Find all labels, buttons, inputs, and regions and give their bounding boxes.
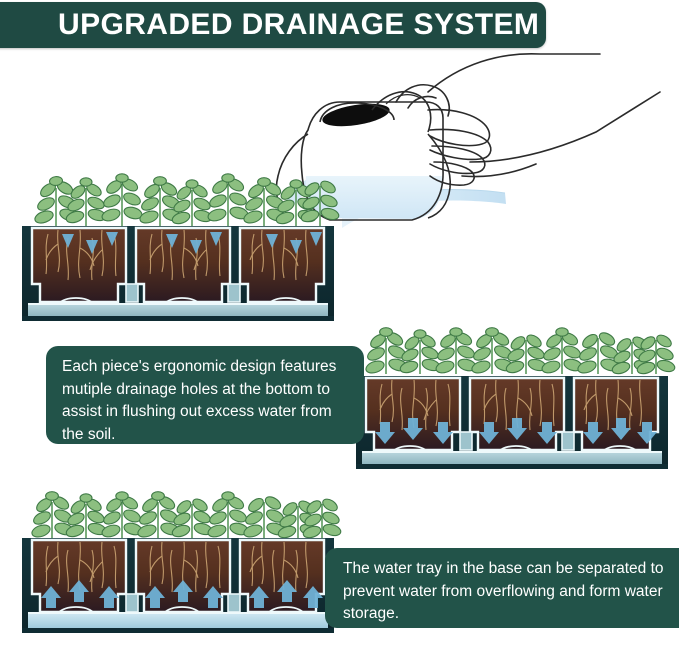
page-title: UPGRADED DRAINAGE SYSTEM xyxy=(0,10,539,40)
planter-top-illustration xyxy=(18,160,338,335)
caption-drainage-holes: Each piece's ergonomic design features m… xyxy=(46,346,364,444)
planter-cells xyxy=(32,228,324,302)
plant-foliage-group xyxy=(33,174,340,226)
title-banner: UPGRADED DRAINAGE SYSTEM xyxy=(0,2,546,48)
can-opening xyxy=(321,100,391,130)
hand-watering-can-illustration xyxy=(300,58,679,248)
planter-cells xyxy=(366,378,658,450)
infographic-canvas: UPGRADED DRAINAGE SYSTEM xyxy=(0,0,679,648)
planter-middle-illustration xyxy=(352,318,672,478)
caption-water-tray: The water tray in the base can be separa… xyxy=(325,548,679,628)
planter-bottom-illustration xyxy=(18,480,338,640)
plant-foliage-group xyxy=(364,328,676,376)
plant-foliage-group xyxy=(30,492,342,540)
hand-icon xyxy=(396,54,660,185)
